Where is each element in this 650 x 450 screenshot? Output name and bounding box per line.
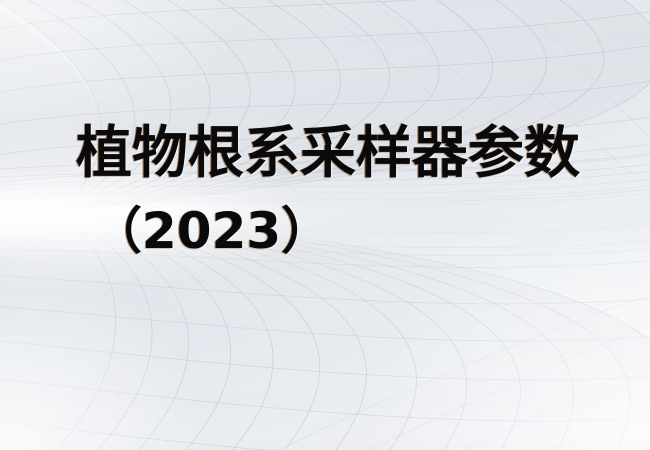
page-title-line-2: （2023） <box>92 202 331 260</box>
title-block: 植物根系采样器参数 （2023） <box>0 0 650 450</box>
title-slide: 植物根系采样器参数 （2023） <box>0 0 650 450</box>
page-title-line-1: 植物根系采样器参数 <box>76 122 580 186</box>
